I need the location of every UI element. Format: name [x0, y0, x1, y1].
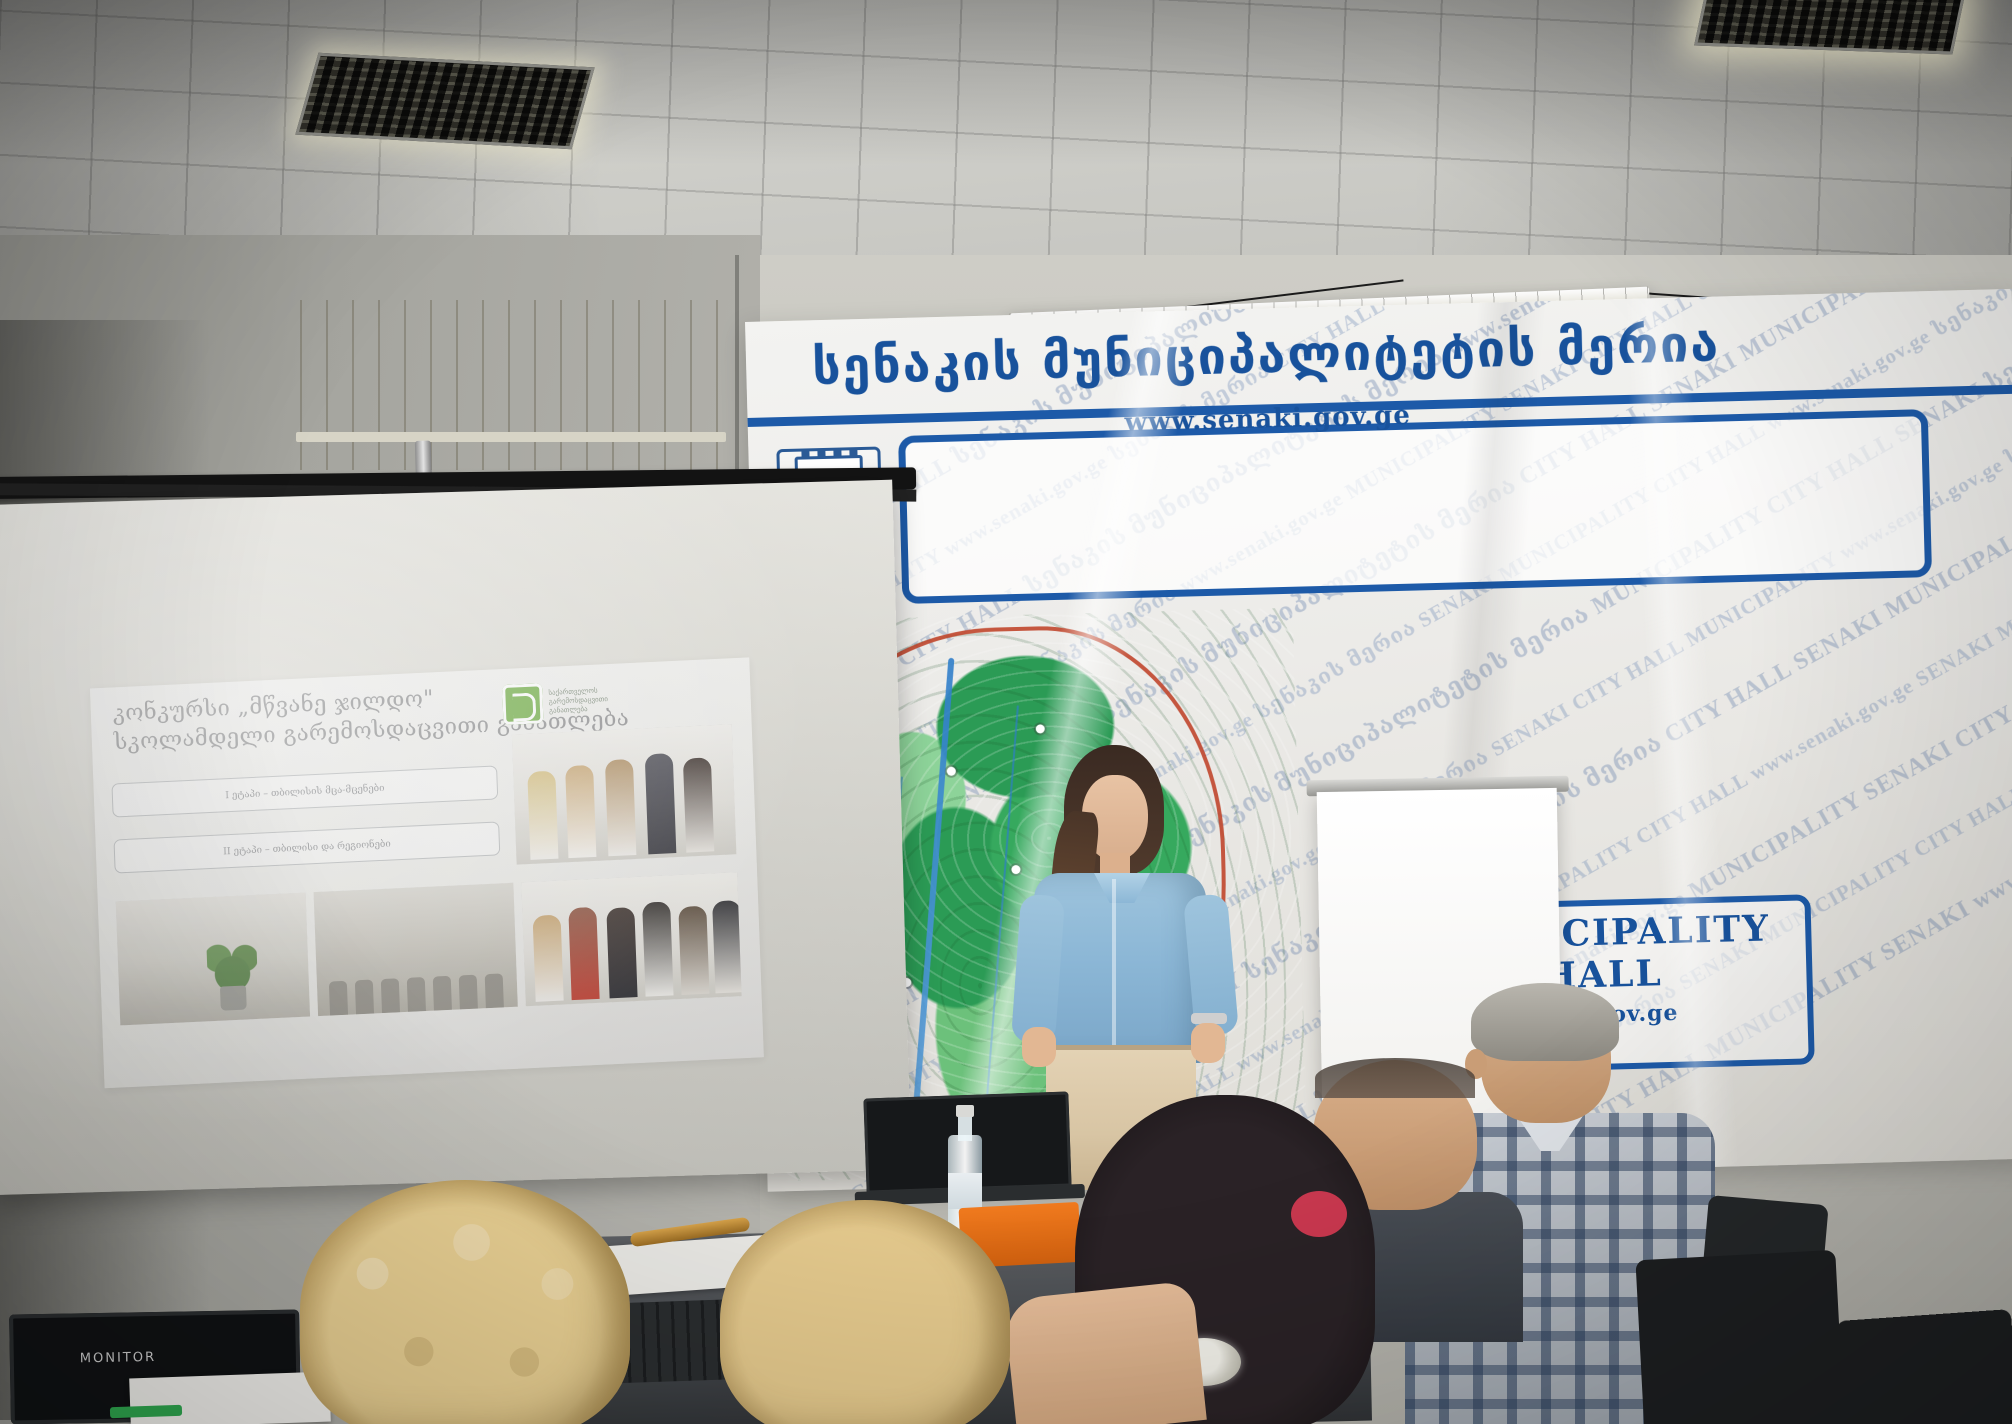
blinds-rail	[296, 432, 726, 442]
conference-room-scene: SENAKI MUNICIPALITY CITY HALL სენაკის მუ…	[0, 0, 2012, 1424]
audience-blonde-woman-center	[720, 1200, 1010, 1424]
monitor-brand-label: MONITOR	[80, 1350, 156, 1366]
resting-arm	[1003, 1280, 1207, 1424]
plaid-man-hair	[1471, 983, 1619, 1061]
bottle-neck	[958, 1115, 972, 1141]
ceiling-light-troffer-right	[1694, 0, 1966, 55]
blonde-hair	[720, 1200, 1010, 1424]
red-hair-tie	[1291, 1191, 1347, 1237]
screen-glare	[0, 480, 911, 1195]
projection-screen: კონკურსი „მწვანე ჯილდო" სკოლამდელი გარემ…	[0, 480, 911, 1195]
chair-far-right	[1836, 1309, 2012, 1424]
banner-title: სენაკის მუნიციპალიტეტის მერია	[785, 314, 1746, 397]
bald-man-hair-fringe	[1315, 1058, 1475, 1098]
presenter-button-placket	[1112, 879, 1116, 1057]
presenter-left-hand	[1022, 1027, 1056, 1067]
ceiling-light-troffer-left	[295, 53, 594, 150]
audience-blonde-woman-left	[300, 1180, 630, 1424]
blonde-hair-curls	[300, 1180, 630, 1424]
bottle-cap[interactable]	[956, 1105, 974, 1117]
projection-screen-assembly: კონკურსი „მწვანე ჯილდო" სკოლამდელი გარემ…	[0, 467, 936, 1213]
window-blinds	[300, 300, 720, 470]
presenter-collar	[1094, 873, 1150, 903]
presenter-right-hand	[1191, 1023, 1225, 1063]
chair-foreground-right	[1635, 1250, 1844, 1424]
